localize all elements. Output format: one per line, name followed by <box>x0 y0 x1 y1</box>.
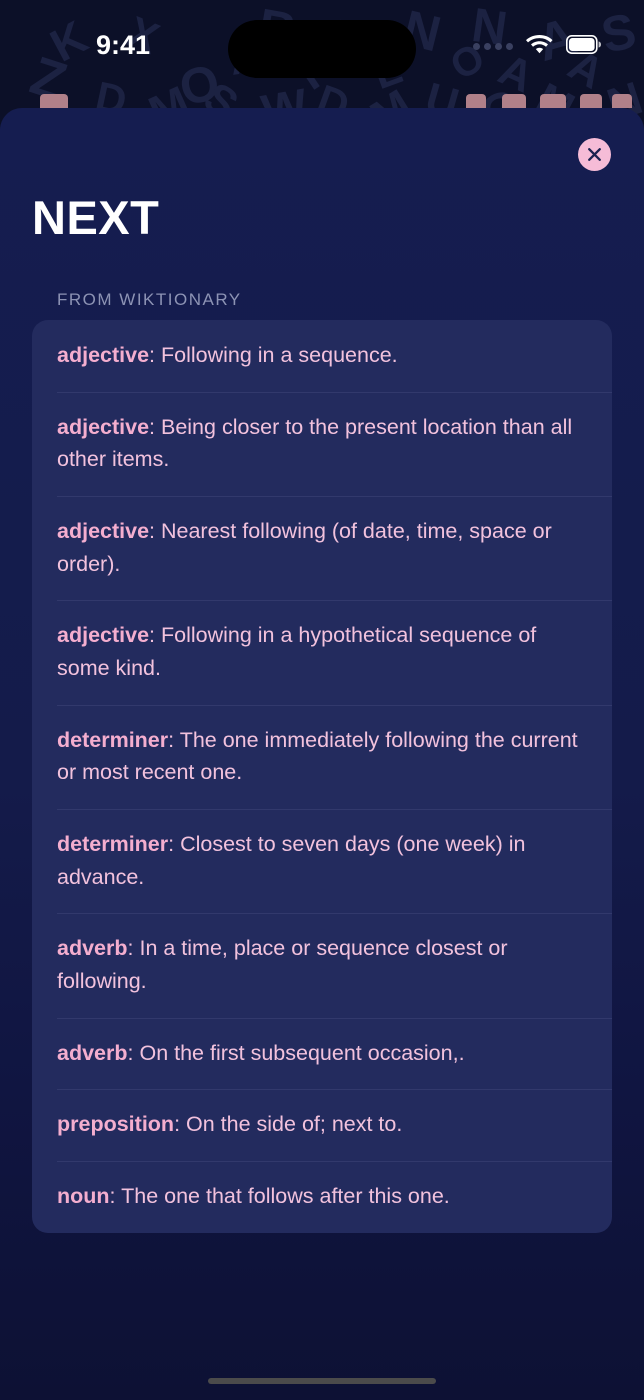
definition-separator: : <box>110 1184 122 1208</box>
source-attribution-label: FROM WIKTIONARY <box>57 290 242 310</box>
close-x-icon <box>586 146 603 163</box>
battery-full-icon <box>566 35 602 59</box>
definitions-card: adjective: Following in a sequence.adjec… <box>32 320 612 1233</box>
definition-separator: : <box>168 728 180 752</box>
part-of-speech-label: adverb <box>57 1041 128 1065</box>
definition-row[interactable]: preposition: On the side of; next to. <box>32 1089 612 1161</box>
definition-text: adjective: Nearest following (of date, t… <box>57 515 587 580</box>
part-of-speech-label: adjective <box>57 519 149 543</box>
definition-row[interactable]: determiner: The one immediately followin… <box>32 705 612 809</box>
definition-body: Following in a sequence. <box>161 343 398 367</box>
definition-separator: : <box>168 832 180 856</box>
phone-screen: KXOZABKBLNONAAASDMSWDMUCMN 9:41 <box>0 0 644 1400</box>
definition-separator: : <box>128 936 140 960</box>
definition-row[interactable]: adjective: Being closer to the present l… <box>32 392 612 496</box>
definition-row[interactable]: adjective: Following in a sequence. <box>32 320 612 392</box>
part-of-speech-label: noun <box>57 1184 110 1208</box>
part-of-speech-label: determiner <box>57 728 168 752</box>
definition-modal-sheet: NEXT FROM WIKTIONARY adjective: Followin… <box>0 108 644 1400</box>
definition-text: preposition: On the side of; next to. <box>57 1108 587 1141</box>
cellular-dots-icon <box>473 43 513 50</box>
wifi-icon <box>526 34 553 59</box>
dynamic-island <box>228 20 416 78</box>
definition-text: noun: The one that follows after this on… <box>57 1180 587 1213</box>
definition-text: adjective: Following in a hypothetical s… <box>57 619 587 684</box>
definition-row[interactable]: determiner: Closest to seven days (one w… <box>32 809 612 913</box>
definition-body: On the side of; next to. <box>186 1112 402 1136</box>
definition-row[interactable]: adjective: Following in a hypothetical s… <box>32 600 612 704</box>
status-bar: 9:41 <box>0 0 644 98</box>
definition-row[interactable]: noun: The one that follows after this on… <box>32 1161 612 1233</box>
status-bar-indicators <box>473 34 602 59</box>
definition-row[interactable]: adjective: Nearest following (of date, t… <box>32 496 612 600</box>
part-of-speech-label: determiner <box>57 832 168 856</box>
part-of-speech-label: adjective <box>57 623 149 647</box>
definition-text: determiner: Closest to seven days (one w… <box>57 828 587 893</box>
definition-row[interactable]: adverb: In a time, place or sequence clo… <box>32 913 612 1017</box>
close-button[interactable] <box>578 138 611 171</box>
part-of-speech-label: preposition <box>57 1112 174 1136</box>
home-indicator[interactable] <box>208 1378 436 1384</box>
definition-body: On the first subsequent occasion,. <box>139 1041 464 1065</box>
definition-separator: : <box>149 519 161 543</box>
page-title: NEXT <box>32 194 159 241</box>
part-of-speech-label: adverb <box>57 936 128 960</box>
definition-separator: : <box>149 415 161 439</box>
definition-separator: : <box>128 1041 140 1065</box>
part-of-speech-label: adjective <box>57 415 149 439</box>
definition-separator: : <box>149 343 161 367</box>
part-of-speech-label: adjective <box>57 343 149 367</box>
status-bar-clock: 9:41 <box>96 30 216 61</box>
definition-text: determiner: The one immediately followin… <box>57 724 587 789</box>
definition-row[interactable]: adverb: On the first subsequent occasion… <box>32 1018 612 1090</box>
definition-separator: : <box>149 623 161 647</box>
definition-text: adjective: Being closer to the present l… <box>57 411 587 476</box>
definition-body: The one that follows after this one. <box>121 1184 450 1208</box>
definition-text: adjective: Following in a sequence. <box>57 339 587 372</box>
definition-separator: : <box>174 1112 186 1136</box>
definition-text: adverb: In a time, place or sequence clo… <box>57 932 587 997</box>
definition-text: adverb: On the first subsequent occasion… <box>57 1037 587 1070</box>
